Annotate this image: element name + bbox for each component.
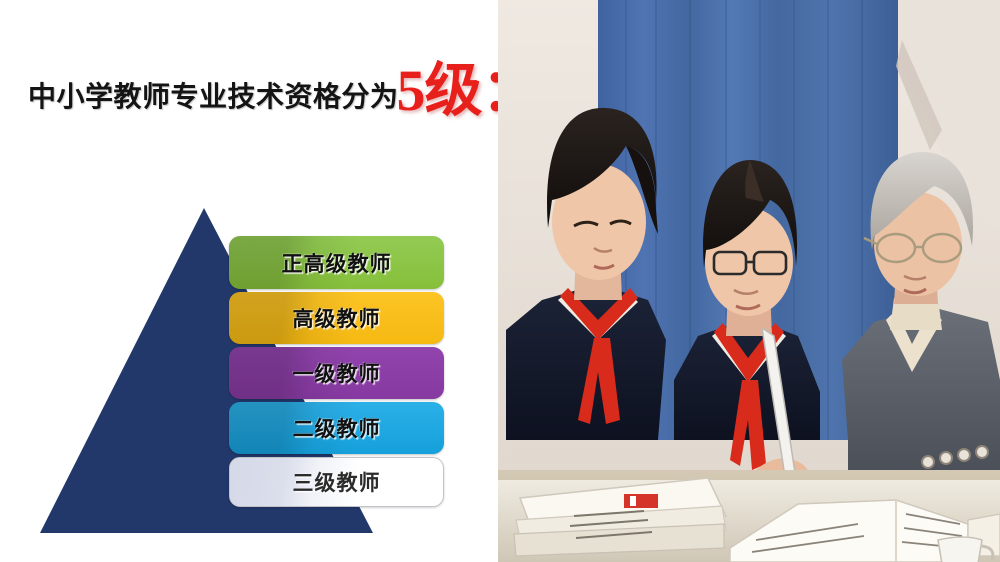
pyramid-level-1[interactable]: 正高级教师 xyxy=(229,236,444,289)
pyramid-level-label: 正高级教师 xyxy=(282,248,392,278)
classroom-photo xyxy=(498,0,1000,562)
pyramid-level-label: 一级教师 xyxy=(293,358,381,388)
pyramid-level-2[interactable]: 高级教师 xyxy=(229,292,444,344)
pyramid-diagram: 正高级教师 高级教师 一级教师 二级教师 三级教师 xyxy=(0,0,495,562)
pyramid-level-4[interactable]: 二级教师 xyxy=(229,402,444,454)
pyramid-level-label: 高级教师 xyxy=(293,303,381,333)
pyramid-level-label: 三级教师 xyxy=(293,467,381,497)
pyramid-level-3[interactable]: 一级教师 xyxy=(229,347,444,399)
classroom-photo-illustration xyxy=(498,0,1000,562)
slide-canvas: 中小学教师专业技术资格分为 5级： 正高级教师 高级教师 一级教师 二级教师 三… xyxy=(0,0,1000,562)
pyramid-level-5[interactable]: 三级教师 xyxy=(229,457,444,507)
pyramid-level-label: 二级教师 xyxy=(293,413,381,443)
